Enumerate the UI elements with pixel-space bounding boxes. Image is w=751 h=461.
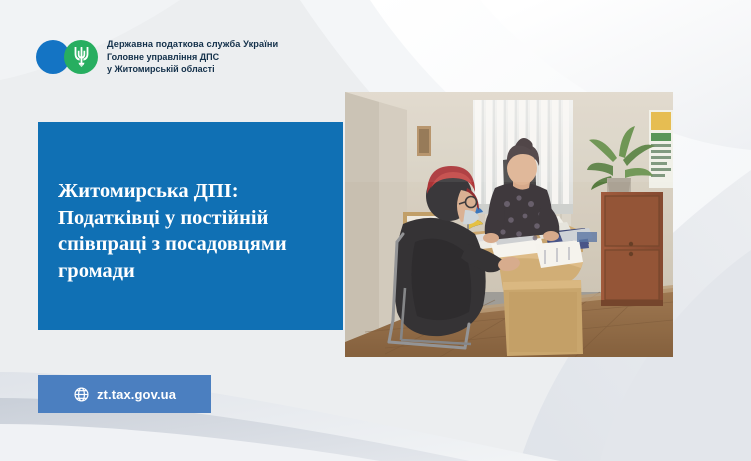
logo-subtitle-line-1: Головне управління ДПС <box>107 52 278 64</box>
ukraine-trident-icon <box>73 46 90 67</box>
office-meeting-photo-illustration <box>345 92 673 357</box>
tax-service-news-banner: Державна податкова служба України Головн… <box>0 0 751 461</box>
logo-green-circle <box>64 40 98 74</box>
logo-subtitle-line-2: у Житомирській області <box>107 64 278 76</box>
website-url-label: zt.tax.gov.ua <box>97 387 176 402</box>
logo-title-line: Державна податкова служба України <box>107 38 278 50</box>
headline-box: Житомирська ДПІ: Податківці у постійній … <box>38 122 343 330</box>
website-url-bar[interactable]: zt.tax.gov.ua <box>38 375 211 413</box>
logo-text-block: Державна податкова служба України Головн… <box>107 38 278 75</box>
headline-text: Житомирська ДПІ: Податківці у постійній … <box>58 178 325 284</box>
globe-icon <box>73 386 90 403</box>
news-photo <box>345 92 673 357</box>
logo-marks <box>36 40 98 74</box>
organization-logo: Державна податкова служба України Головн… <box>36 38 278 75</box>
